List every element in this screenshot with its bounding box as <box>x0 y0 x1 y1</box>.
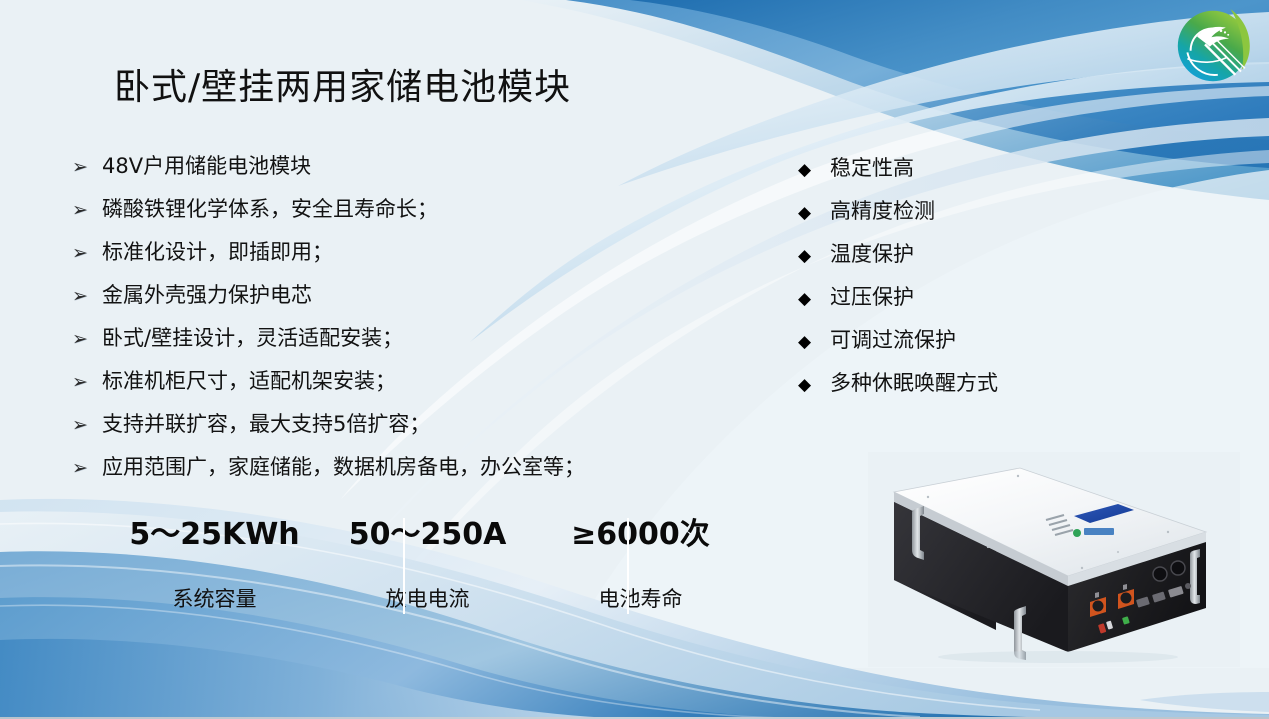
arrow-bullet-icon: ➢ <box>72 416 102 435</box>
list-item: ◆ 高精度检测 <box>798 195 1098 238</box>
list-item: ➢ 48V户用储能电池模块 <box>72 150 712 193</box>
spec-value: 5～25KWh <box>108 518 321 551</box>
right-feature-list: ◆ 稳定性高 ◆ 高精度检测 ◆ 温度保护 ◆ 过压保护 ◆ 可调过流保护 ◆ … <box>798 152 1098 410</box>
feature-text: 高精度检测 <box>830 195 935 225</box>
arrow-bullet-icon: ➢ <box>72 330 102 349</box>
spec-divider <box>403 518 405 614</box>
list-item: ➢ 应用范围广，家庭储能，数据机房备电，办公室等； <box>72 451 712 494</box>
spec-label: 电池寿命 <box>534 583 747 613</box>
list-item: ◆ 稳定性高 <box>798 152 1098 195</box>
arrow-bullet-icon: ➢ <box>72 373 102 392</box>
diamond-bullet-icon: ◆ <box>798 291 830 308</box>
list-item: ◆ 过压保护 <box>798 281 1098 324</box>
arrow-bullet-icon: ➢ <box>72 201 102 220</box>
feature-text: 过压保护 <box>830 281 914 311</box>
page-title: 卧式/壁挂两用家储电池模块 <box>114 58 571 110</box>
spec-value: ≥6000次 <box>534 518 747 551</box>
diamond-bullet-icon: ◆ <box>798 205 830 222</box>
feature-text: 卧式/壁挂设计，灵活适配安装； <box>102 322 403 352</box>
diamond-bullet-icon: ◆ <box>798 377 830 394</box>
feature-text: 温度保护 <box>830 238 914 268</box>
feature-text: 稳定性高 <box>830 152 914 182</box>
feature-text: 应用范围广，家庭储能，数据机房备电，办公室等； <box>102 451 585 481</box>
diamond-bullet-icon: ◆ <box>798 162 830 179</box>
spec-highlights: 5～25KWh 系统容量 50～250A 放电电流 ≥6000次 电池寿命 <box>108 518 748 622</box>
list-item: ➢ 支持并联扩容，最大支持5倍扩容； <box>72 408 712 451</box>
diamond-bullet-icon: ◆ <box>798 334 830 351</box>
list-item: ➢ 标准机柜尺寸，适配机架安装； <box>72 365 712 408</box>
spec-label: 放电电流 <box>321 583 534 613</box>
list-item: ➢ 标准化设计，即插即用； <box>72 236 712 279</box>
arrow-bullet-icon: ➢ <box>72 158 102 177</box>
spec-item-current: 50～250A 放电电流 <box>321 518 534 613</box>
slide-canvas: 卧式/壁挂两用家储电池模块 ➢ 48V户用储能电池模块 ➢ 磷酸铁锂化学体系，安… <box>0 0 1269 719</box>
arrow-bullet-icon: ➢ <box>72 244 102 263</box>
spec-divider <box>627 518 629 614</box>
feature-text: 可调过流保护 <box>830 324 956 354</box>
feature-text: 标准机柜尺寸，适配机架安装； <box>102 365 396 395</box>
list-item: ◆ 可调过流保护 <box>798 324 1098 367</box>
battery-module-photo <box>868 452 1240 667</box>
company-logo <box>1170 6 1256 86</box>
feature-text: 支持并联扩容，最大支持5倍扩容； <box>102 408 430 438</box>
list-item: ◆ 多种休眠唤醒方式 <box>798 367 1098 410</box>
feature-text: 标准化设计，即插即用； <box>102 236 333 266</box>
feature-text: 金属外壳强力保护电芯 <box>102 279 312 309</box>
spec-label: 系统容量 <box>108 583 321 613</box>
diamond-bullet-icon: ◆ <box>798 248 830 265</box>
feature-text: 磷酸铁锂化学体系，安全且寿命长； <box>102 193 438 223</box>
list-item: ➢ 金属外壳强力保护电芯 <box>72 279 712 322</box>
spec-item-capacity: 5～25KWh 系统容量 <box>108 518 321 613</box>
arrow-bullet-icon: ➢ <box>72 459 102 478</box>
arrow-bullet-icon: ➢ <box>72 287 102 306</box>
left-feature-list: ➢ 48V户用储能电池模块 ➢ 磷酸铁锂化学体系，安全且寿命长； ➢ 标准化设计… <box>72 150 712 494</box>
feature-text: 48V户用储能电池模块 <box>102 150 311 180</box>
list-item: ◆ 温度保护 <box>798 238 1098 281</box>
spec-value: 50～250A <box>321 518 534 551</box>
spec-item-lifetime: ≥6000次 电池寿命 <box>534 518 747 613</box>
feature-text: 多种休眠唤醒方式 <box>830 367 998 397</box>
list-item: ➢ 磷酸铁锂化学体系，安全且寿命长； <box>72 193 712 236</box>
list-item: ➢ 卧式/壁挂设计，灵活适配安装； <box>72 322 712 365</box>
